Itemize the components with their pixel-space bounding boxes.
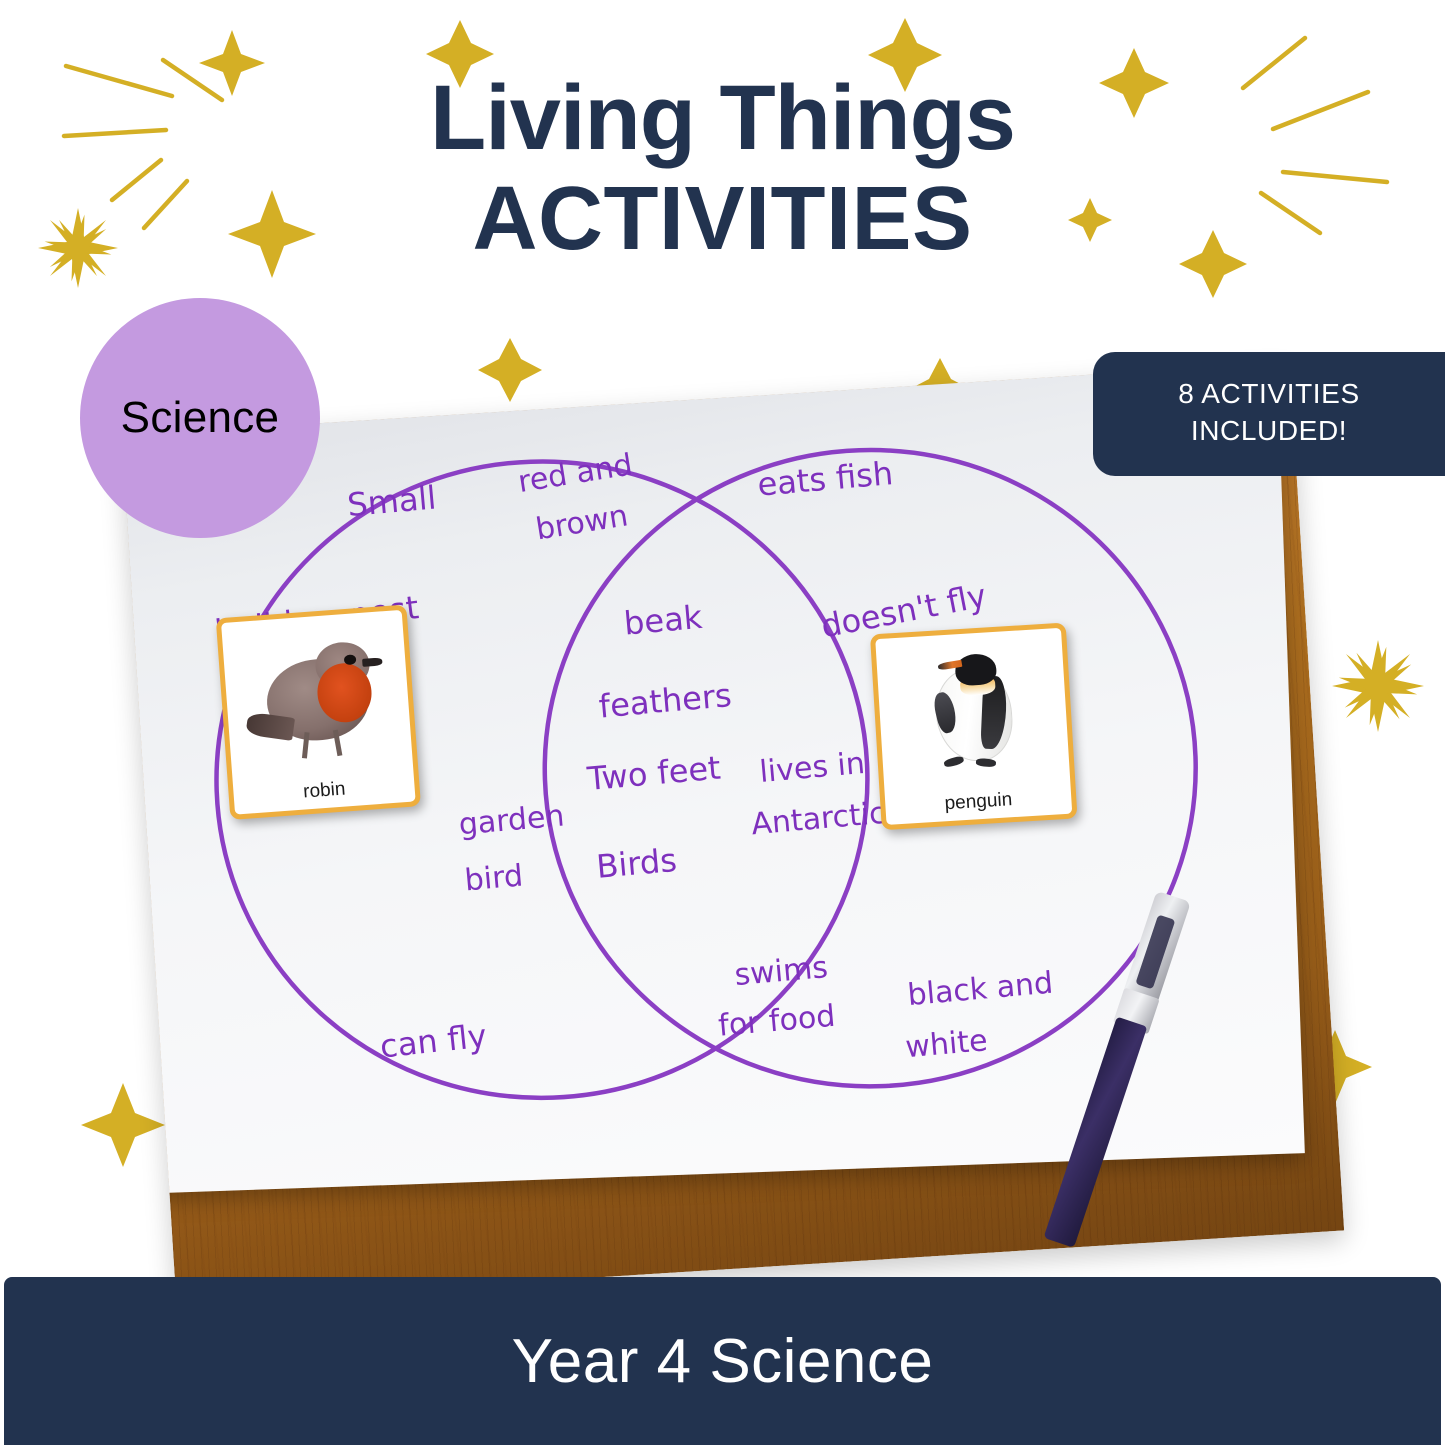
penguin-illustration — [875, 628, 1070, 797]
venn-label: Two feet — [585, 748, 722, 798]
venn-label: can fly — [378, 1017, 488, 1066]
subject-badge-label: Science — [121, 393, 280, 443]
card-label: robin — [302, 778, 346, 803]
venn-label: Small — [346, 478, 438, 524]
poster-canvas: Small red and brown builds a nest garden… — [0, 0, 1445, 1445]
sparkle-star-icon — [478, 338, 542, 402]
picture-card-robin: robin — [215, 605, 421, 820]
venn-label: red and — [516, 447, 635, 500]
card-label: penguin — [944, 789, 1013, 815]
venn-label: Birds — [595, 841, 679, 886]
picture-card-penguin: penguin — [870, 623, 1078, 831]
venn-label: for food — [717, 999, 837, 1044]
venn-label: swims — [733, 950, 829, 993]
burst-right-middle — [1320, 618, 1445, 748]
venn-label: feathers — [597, 676, 733, 725]
venn-diagram-photo: Small red and brown builds a nest garden… — [148, 398, 1318, 1268]
venn-label: lives in — [758, 746, 866, 790]
title-line-2: ACTIVITIES — [0, 168, 1445, 272]
subject-badge: Science — [80, 298, 320, 538]
title-line-1: Living Things — [0, 70, 1445, 168]
venn-label: bird — [463, 858, 524, 898]
venn-label: brown — [533, 498, 630, 547]
robin-illustration — [221, 610, 414, 787]
venn-label: garden — [457, 798, 566, 842]
footer-label: Year 4 Science — [512, 1326, 934, 1397]
footer-banner: Year 4 Science — [4, 1277, 1441, 1445]
venn-label: black and — [906, 965, 1054, 1013]
page-title: Living Things ACTIVITIES — [0, 70, 1445, 271]
venn-label: beak — [622, 598, 704, 643]
activities-count-badge: 8 ACTIVITIES INCLUDED! — [1093, 352, 1445, 476]
burst-star-icon — [1331, 639, 1426, 734]
venn-label: white — [904, 1023, 989, 1065]
